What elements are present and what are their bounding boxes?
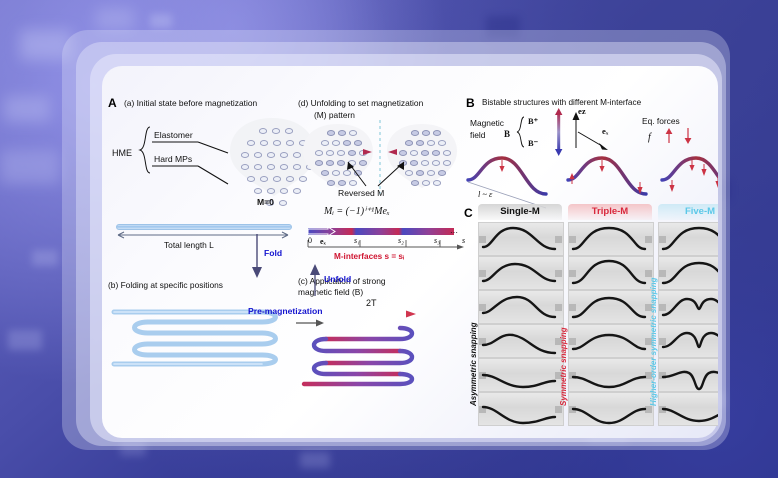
snapping-frame bbox=[568, 324, 654, 358]
axis-tick-s1: s₁ bbox=[354, 236, 360, 245]
hard-mp-dot bbox=[433, 130, 441, 136]
hard-mp-dot bbox=[427, 140, 435, 146]
m-interfaces-label: M-interfaces s = sᵢ bbox=[334, 252, 404, 261]
column-title-triple-m: Triple-M bbox=[568, 204, 652, 220]
panel-b-title: Bistable structures with different M-int… bbox=[482, 98, 641, 107]
b-plus-label: B⁺ bbox=[528, 116, 538, 126]
field-brace bbox=[516, 116, 526, 148]
hard-mp-dot bbox=[241, 164, 249, 170]
hard-mp-dot bbox=[259, 128, 267, 134]
hard-mp-dot bbox=[273, 140, 281, 146]
hard-mp-dot bbox=[247, 176, 255, 182]
hard-mp-dot bbox=[422, 130, 430, 136]
ez-label: eᴢ bbox=[578, 106, 586, 116]
hard-mp-dot bbox=[321, 140, 329, 146]
fold-arrow bbox=[250, 234, 264, 280]
length-epsilon-label: l ~ ε bbox=[478, 190, 492, 199]
magnetized-folded-strip bbox=[302, 324, 420, 386]
caption-b: (b) Folding at specific positions bbox=[108, 280, 223, 290]
panel-letter-c: C bbox=[464, 206, 473, 220]
unfold-arrow bbox=[308, 264, 322, 296]
hard-mp-dot bbox=[443, 160, 451, 166]
hard-mp-dot bbox=[254, 152, 262, 158]
hard-mp-dot bbox=[279, 200, 287, 206]
hard-mp-dot bbox=[293, 188, 301, 194]
axis-label-ex: eₓ bbox=[320, 237, 326, 246]
hard-mp-dot bbox=[293, 164, 301, 170]
bokeh-light-4 bbox=[0, 150, 60, 184]
hard-mp-dot bbox=[354, 140, 362, 146]
hard-mp-dot bbox=[416, 140, 424, 146]
hard-mp-dot bbox=[241, 152, 249, 158]
magnetization-equation: Mᵢ = (−1)ⁱ⁺¹Meₓ bbox=[324, 206, 390, 217]
eq-forces-label: Eq. forces bbox=[642, 116, 680, 126]
bistable-curve-five bbox=[658, 154, 718, 200]
bistable-curve-triple bbox=[564, 154, 650, 200]
hard-mp-dot bbox=[254, 164, 262, 170]
snapping-frame bbox=[658, 222, 718, 256]
snapping-frame bbox=[478, 324, 564, 358]
hard-mp-dot bbox=[332, 140, 340, 146]
snapping-frame bbox=[478, 392, 564, 426]
magnetic-field-label-line2: field bbox=[470, 130, 485, 140]
hard-mp-dot bbox=[327, 130, 335, 136]
bokeh-light-6 bbox=[32, 250, 58, 266]
field-strength-label: 2T bbox=[366, 298, 377, 308]
snapping-frame bbox=[658, 392, 718, 426]
axis-ellipsis: … bbox=[450, 226, 458, 235]
hard-mp-dot bbox=[286, 176, 294, 182]
total-length-label: Total length L bbox=[164, 240, 214, 250]
hard-mp-dot bbox=[254, 188, 262, 194]
unfold-label: Unfold bbox=[324, 274, 351, 284]
axis-tick-zero: 0 bbox=[308, 236, 312, 245]
caption-a: (a) Initial state before magnetization bbox=[124, 98, 257, 108]
snapping-frame bbox=[568, 256, 654, 290]
reversed-m-pointers bbox=[318, 152, 442, 188]
elastomer-leader-line bbox=[152, 140, 230, 160]
hard-mp-dot bbox=[280, 152, 288, 158]
scientific-figure: A (a) Initial state before magnetization… bbox=[102, 66, 718, 438]
column-vlabel-single-m: Asymmetric snapping bbox=[469, 322, 478, 406]
field-strength-arrow bbox=[342, 310, 418, 318]
snapping-frame bbox=[478, 256, 564, 290]
snapping-frame bbox=[658, 256, 718, 290]
folded-strip-b bbox=[112, 308, 292, 366]
hard-mp-dot bbox=[438, 140, 446, 146]
bokeh-light-2 bbox=[96, 8, 134, 30]
snapping-frame bbox=[658, 358, 718, 392]
hard-mp-dot bbox=[280, 188, 288, 194]
column-title-single-m: Single-M bbox=[478, 204, 562, 220]
caption-d-line1: (d) Unfolding to set magnetization bbox=[298, 98, 423, 108]
caption-d-line2: (M) pattern bbox=[314, 110, 355, 120]
hme-brace bbox=[138, 126, 152, 174]
eq-force-arrows bbox=[664, 128, 698, 144]
hard-mp-dot bbox=[280, 164, 288, 170]
basis-axes bbox=[572, 110, 618, 152]
hard-mp-dot bbox=[293, 152, 301, 158]
reversed-m-label: Reversed M bbox=[338, 188, 384, 198]
axis-label-s: s bbox=[462, 236, 465, 245]
hard-mp-dot bbox=[411, 130, 419, 136]
snapping-frame bbox=[568, 222, 654, 256]
hard-mp-dot bbox=[267, 152, 275, 158]
hard-mp-dot bbox=[267, 188, 275, 194]
axis-tick-s3: s₃ bbox=[434, 236, 440, 245]
hard-mp-dot bbox=[338, 130, 346, 136]
bokeh-light-5 bbox=[150, 14, 172, 28]
s-axis-line bbox=[308, 238, 470, 252]
m-zero-label: M=0 bbox=[257, 197, 274, 207]
hard-mp-dot bbox=[247, 140, 255, 146]
field-symbol-b: B bbox=[504, 129, 510, 139]
snapping-frame bbox=[658, 324, 718, 358]
axis-tick-s2: s₂ bbox=[398, 236, 404, 245]
screenshot-root: A (a) Initial state before magnetization… bbox=[0, 0, 778, 478]
hardmps-leader-line bbox=[152, 164, 230, 188]
field-double-arrow bbox=[554, 108, 564, 156]
snapping-frame bbox=[478, 290, 564, 324]
snapping-frame bbox=[658, 290, 718, 324]
hard-mp-dot bbox=[286, 140, 294, 146]
column-title-five-m: Five-M bbox=[658, 204, 718, 220]
panel-letter-b: B bbox=[466, 96, 475, 110]
hard-mp-dot bbox=[260, 176, 268, 182]
b-minus-label: B⁻ bbox=[528, 138, 538, 148]
hard-mp-dot bbox=[405, 140, 413, 146]
premagnetization-label: Pre-magnetization bbox=[248, 306, 323, 316]
snapping-frame bbox=[478, 358, 564, 392]
bokeh-light-3 bbox=[4, 96, 50, 122]
ex-label: eₓ bbox=[602, 126, 608, 136]
hme-label: HME bbox=[112, 148, 132, 158]
fold-label: Fold bbox=[264, 248, 282, 258]
panel-letter-a: A bbox=[108, 96, 117, 110]
bokeh-light-7 bbox=[8, 330, 42, 350]
snapping-frame bbox=[478, 222, 564, 256]
column-vlabel-triple-m: Symmetric snapping bbox=[559, 327, 568, 406]
column-vlabel-five-m: Higher-order symmetric snapping bbox=[649, 278, 658, 406]
hard-mp-dot bbox=[260, 140, 268, 146]
snapping-frame bbox=[568, 290, 654, 324]
elastomer-label: Elastomer bbox=[154, 130, 193, 140]
hard-mp-dot bbox=[343, 140, 351, 146]
hard-mp-dot bbox=[285, 128, 293, 134]
hard-mp-dot bbox=[273, 176, 281, 182]
hard-mp-dot bbox=[272, 128, 280, 134]
force-symbol: f bbox=[648, 132, 651, 143]
snapping-frame bbox=[568, 392, 654, 426]
hard-mp-dot bbox=[267, 164, 275, 170]
hard-mp-dot bbox=[349, 130, 357, 136]
bokeh-light-11 bbox=[300, 452, 330, 468]
snapping-frame bbox=[568, 358, 654, 392]
magnetic-field-label-line1: Magnetic bbox=[470, 118, 504, 128]
